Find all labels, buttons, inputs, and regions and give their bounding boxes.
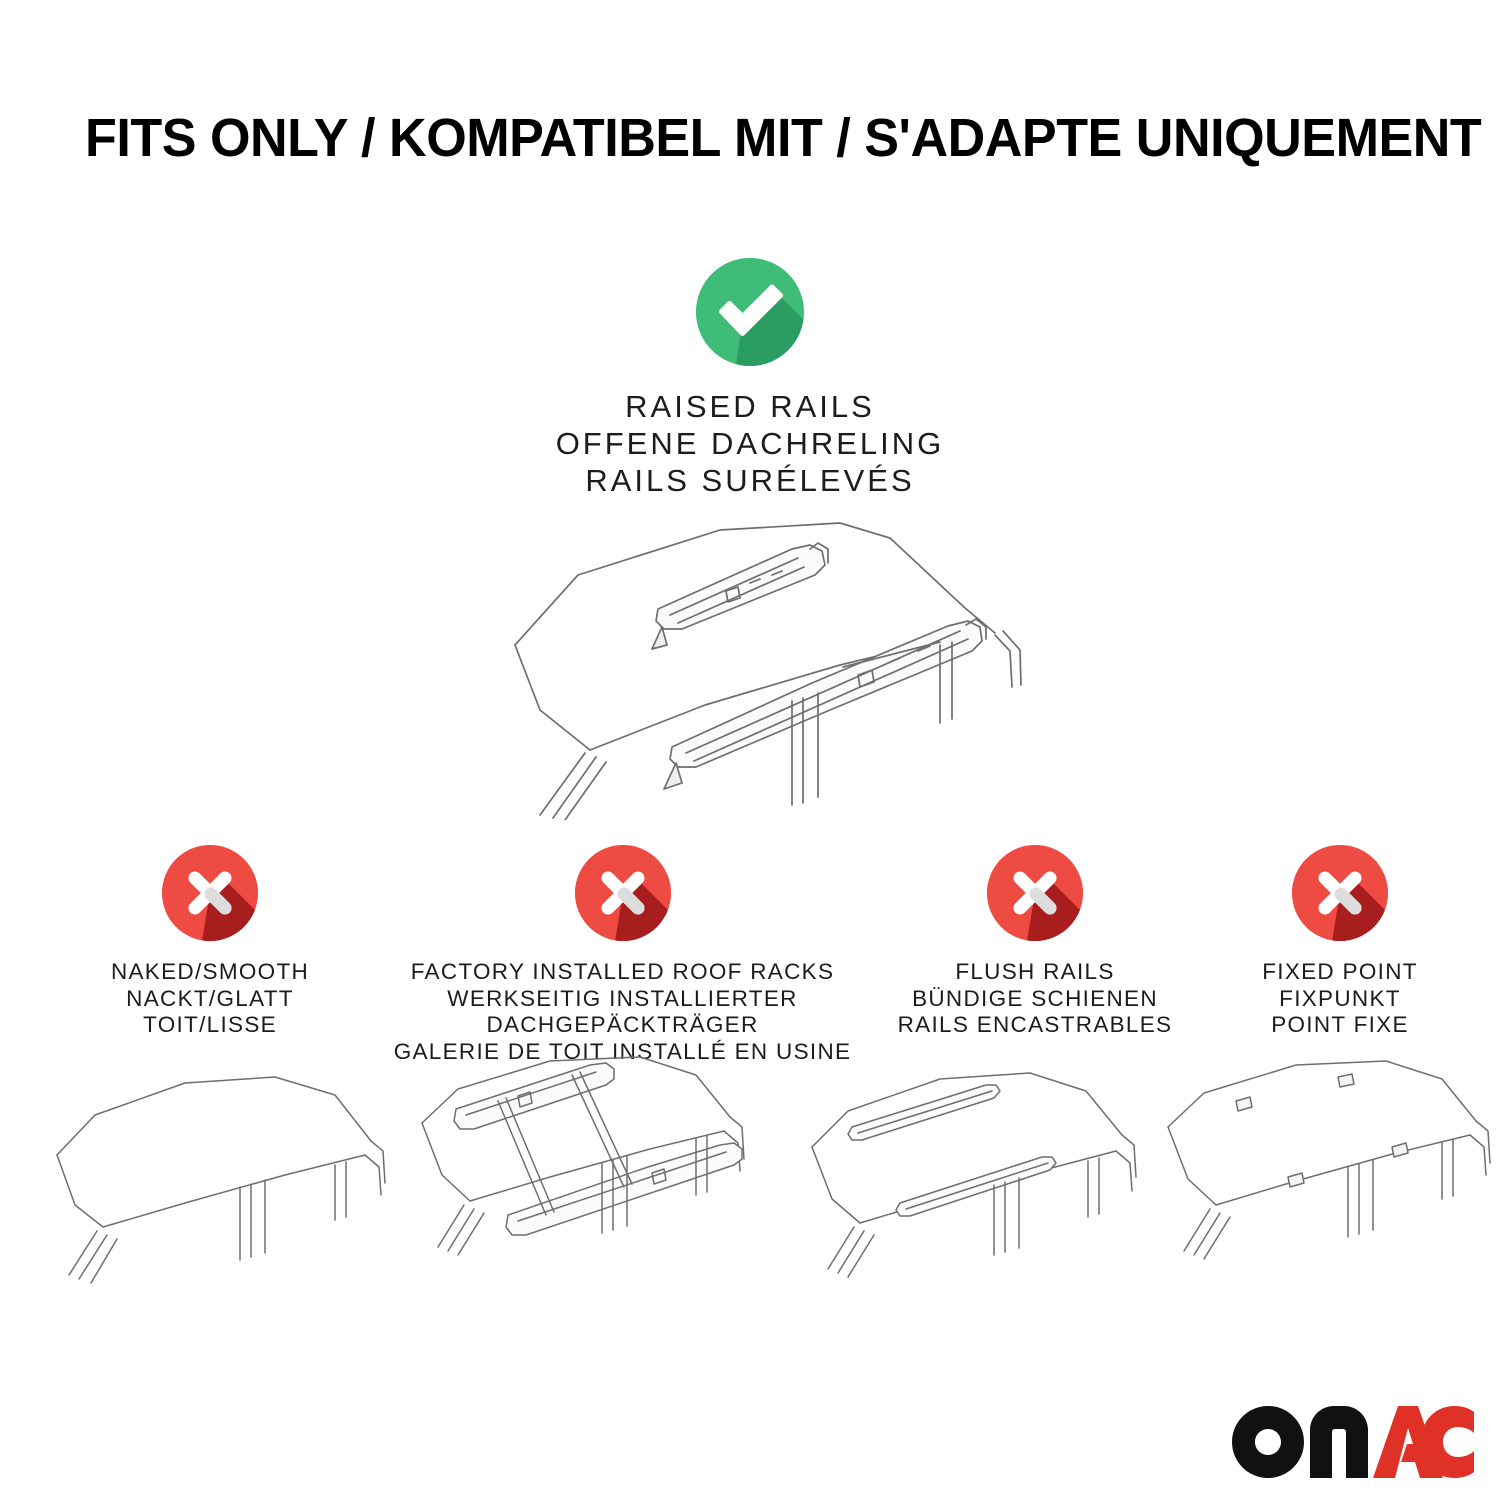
incompatible-1-line-0: FACTORY INSTALLED ROOF RACKS [394,959,852,986]
incompatible-item-flush-rails: FLUSH RAILS BÜNDIGE SCHIENEN RAILS ENCAS… [835,845,1235,1039]
page-title-text: FITS ONLY / KOMPATIBEL MIT / S'ADAPTE UN… [85,109,1481,167]
compatible-section: RAISED RAILS OFFENE DACHRELING RAILS SUR… [430,258,1070,499]
omac-logo [1232,1406,1474,1478]
incompatible-0-line-1: NACKT/GLATT [111,986,309,1013]
compatible-line-0: RAISED RAILS [556,388,945,425]
incompatible-3-line-0: FIXED POINT [1262,959,1418,986]
incompatible-caption: FACTORY INSTALLED ROOF RACKS WERKSEITIG … [394,959,852,1065]
incompatible-2-line-0: FLUSH RAILS [898,959,1173,986]
car-roof-factory-racks-illustration [400,1055,770,1300]
incompatible-3-line-1: FIXPUNKT [1262,986,1418,1013]
incompatible-section: NAKED/SMOOTH NACKT/GLATT TOIT/LISSE FACT… [0,845,1500,1055]
incompatible-0-line-2: TOIT/LISSE [111,1012,309,1039]
incompatible-item-naked-smooth: NAKED/SMOOTH NACKT/GLATT TOIT/LISSE [10,845,410,1039]
incompatible-3-line-2: POINT FIXE [1262,1012,1418,1039]
incompatible-caption: FLUSH RAILS BÜNDIGE SCHIENEN RAILS ENCAS… [898,959,1173,1039]
car-roof-naked-smooth-illustration [35,1055,405,1300]
compatible-line-2: RAILS SURÉLEVÉS [556,462,945,499]
incompatible-item-factory-racks: FACTORY INSTALLED ROOF RACKS WERKSEITIG … [400,845,845,1065]
incompatible-2-line-1: BÜNDIGE SCHIENEN [898,986,1173,1013]
incompatible-2-line-2: RAILS ENCASTRABLES [898,1012,1173,1039]
incompatible-1-line-2: DACHGEPÄCKTRÄGER [394,1012,852,1039]
red-x-circle-icon [987,845,1083,941]
incompatible-illustrations-row [0,1055,1500,1300]
red-x-circle-icon [575,845,671,941]
incompatible-0-line-0: NAKED/SMOOTH [111,959,309,986]
incompatible-caption: NAKED/SMOOTH NACKT/GLATT TOIT/LISSE [111,959,309,1039]
red-x-circle-icon [1292,845,1388,941]
green-check-circle-icon [696,258,804,366]
compatible-caption: RAISED RAILS OFFENE DACHRELING RAILS SUR… [556,388,945,499]
incompatible-1-line-1: WERKSEITIG INSTALLIERTER [394,986,852,1013]
car-roof-fixed-point-illustration [1150,1055,1500,1300]
page-title: FITS ONLY / KOMPATIBEL MIT / S'ADAPTE UN… [85,108,1425,168]
incompatible-caption: FIXED POINT FIXPUNKT POINT FIXE [1262,959,1418,1039]
compatible-line-1: OFFENE DACHRELING [556,425,945,462]
incompatible-item-fixed-point: FIXED POINT FIXPUNKT POINT FIXE [1195,845,1485,1039]
car-roof-flush-rails-illustration [790,1055,1160,1300]
red-x-circle-icon [162,845,258,941]
car-roof-raised-rails-illustration [420,505,1110,820]
